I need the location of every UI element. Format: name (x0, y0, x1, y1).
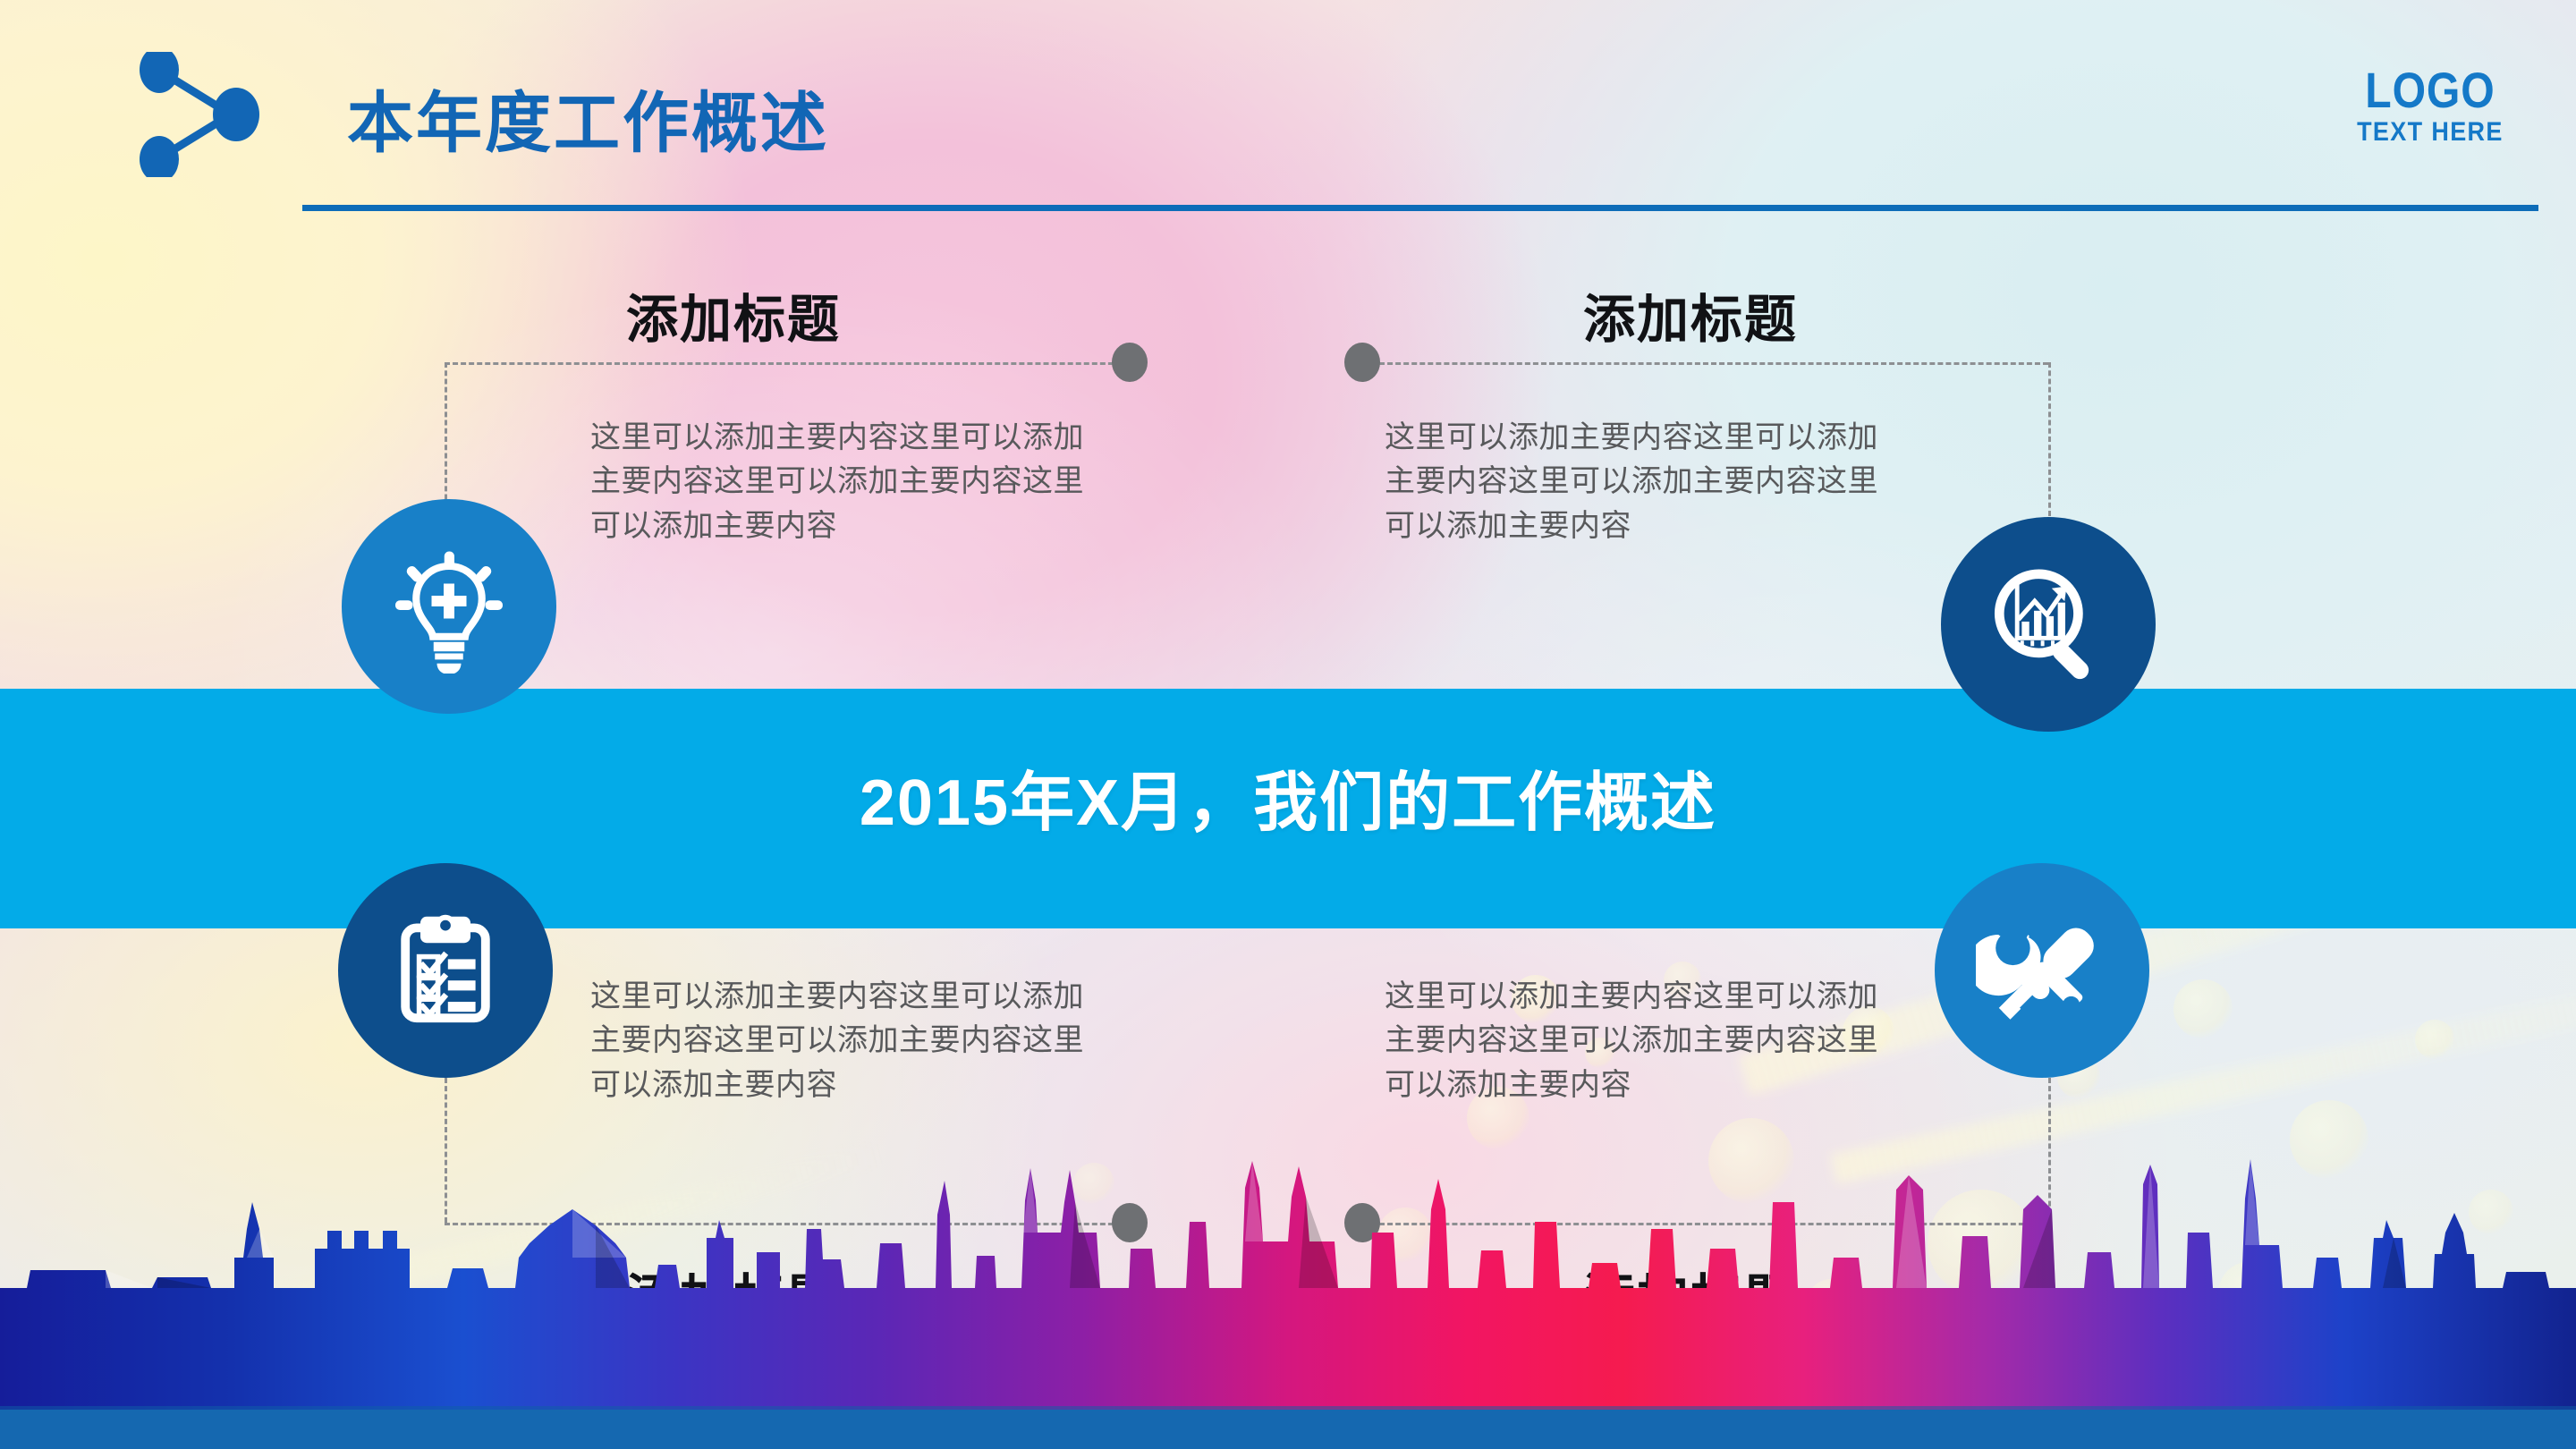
banner-headline: 2015年X月，我们的工作概述 (0, 750, 2576, 843)
clipboard-checklist-icon[interactable] (338, 863, 553, 1078)
lightbulb-plus-icon[interactable] (342, 499, 556, 714)
section-title-top-right: 添加标题 (1583, 277, 1798, 352)
slide-canvas: 本年度工作概述 LOGO TEXT HERE 2015年X月，我们的工作概述 添… (0, 0, 2576, 1449)
section-body-top-left: 这里可以添加主要内容这里可以添加主要内容这里可以添加主要内容这里可以添加主要内容 (590, 416, 1091, 548)
connector-node-dot-top-right (1344, 343, 1380, 382)
footer-bar (0, 1410, 2576, 1449)
connector-top-left-horizontal (445, 362, 1130, 365)
section-body-bottom-right: 这里可以添加主要内容这里可以添加主要内容这里可以添加主要内容这里可以添加主要内容 (1385, 975, 1885, 1107)
header-rule (302, 205, 2538, 211)
connector-node-dot-top-left (1112, 343, 1148, 382)
section-title-top-left: 添加标题 (626, 277, 841, 352)
page-title: 本年度工作概述 (347, 70, 829, 165)
logo[interactable]: LOGO TEXT HERE (2349, 66, 2512, 148)
logo-sub-text: TEXT HERE (2357, 117, 2504, 148)
section-body-bottom-left: 这里可以添加主要内容这里可以添加主要内容这里可以添加主要内容这里可以添加主要内容 (590, 975, 1091, 1107)
wrench-screwdriver-icon[interactable] (1935, 863, 2149, 1078)
network-node-icon (125, 52, 286, 177)
connector-top-left-vertical (445, 362, 447, 516)
connector-top-right-horizontal (1379, 362, 2048, 365)
city-skyline-silhouette (0, 1143, 2576, 1411)
logo-main-text: LOGO (2360, 66, 2500, 114)
section-body-top-right: 这里可以添加主要内容这里可以添加主要内容这里可以添加主要内容这里可以添加主要内容 (1385, 416, 1885, 548)
connector-top-right-vertical (2048, 362, 2051, 516)
magnifier-chart-icon[interactable] (1941, 517, 2156, 732)
